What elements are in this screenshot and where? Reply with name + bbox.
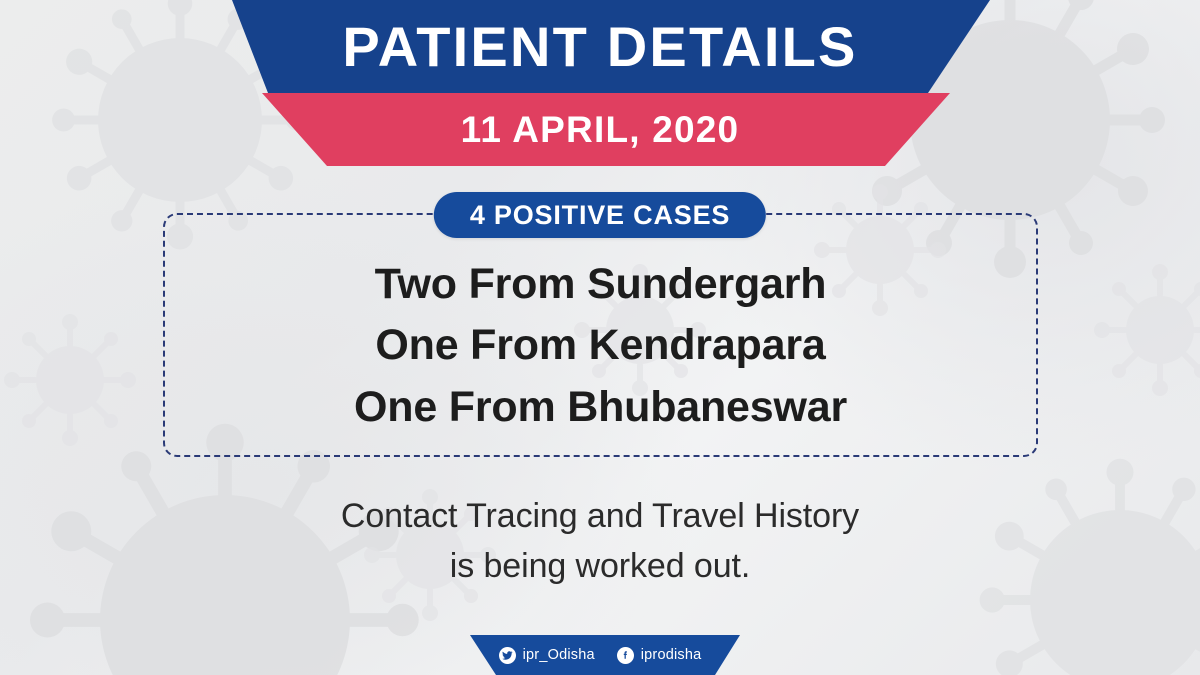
note-block: Contact Tracing and Travel History is be… (0, 492, 1200, 592)
status-badge-label: 4 POSITIVE CASES (470, 202, 730, 229)
page-date-text: 11 APRIL, 2020 (461, 111, 740, 148)
facebook-icon (617, 647, 634, 664)
note-line: is being worked out. (0, 542, 1200, 592)
social-link-facebook[interactable]: iprodisha (617, 647, 702, 664)
facebook-handle: iprodisha (641, 648, 702, 663)
case-line: One From Bhubaneswar (354, 377, 847, 438)
patient-details-poster: PATIENT DETAILS 11 APRIL, 2020 4 POSITIV… (0, 0, 1200, 675)
social-link-twitter[interactable]: ipr_Odisha (499, 647, 595, 664)
cases-panel: Two From Sundergarh One From Kendrapara … (163, 213, 1038, 457)
case-line: One From Kendrapara (375, 315, 825, 376)
status-badge: 4 POSITIVE CASES (434, 192, 766, 238)
page-title: PATIENT DETAILS (0, 0, 1200, 93)
note-line: Contact Tracing and Travel History (0, 492, 1200, 542)
case-line: Two From Sundergarh (375, 254, 827, 315)
twitter-icon (499, 647, 516, 664)
footer: ipr_Odisha iprodisha (0, 635, 1200, 675)
page-date: 11 APRIL, 2020 (0, 93, 1200, 166)
header-banner: PATIENT DETAILS 11 APRIL, 2020 (0, 0, 1200, 175)
page-title-text: PATIENT DETAILS (342, 19, 857, 75)
twitter-handle: ipr_Odisha (523, 648, 595, 663)
footer-social-links: ipr_Odisha iprodisha (0, 635, 1200, 675)
